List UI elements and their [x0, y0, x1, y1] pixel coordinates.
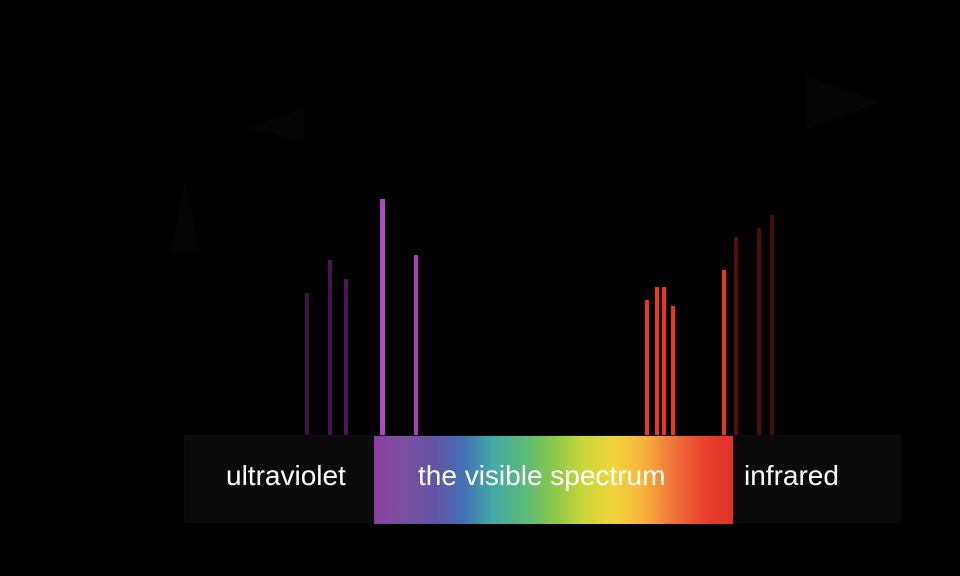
spectral-line — [380, 199, 385, 437]
spectral-line — [655, 287, 659, 437]
spectral-line — [328, 260, 332, 437]
spectral-line — [757, 228, 761, 437]
figure-canvas: ultraviolet the visible spectrum infrare… — [0, 0, 960, 576]
spectral-line — [305, 293, 309, 437]
spectral-line — [722, 270, 726, 437]
spectral-line — [734, 237, 738, 437]
spectral-line — [662, 287, 666, 437]
spectral-line — [671, 306, 675, 437]
spectral-line — [770, 215, 774, 437]
spectral-line — [645, 300, 649, 437]
visible-spectrum-label: the visible spectrum — [418, 462, 665, 490]
infrared-label: infrared — [744, 462, 839, 490]
spectral-line — [414, 255, 418, 437]
spectral-line — [344, 279, 348, 437]
ultraviolet-label: ultraviolet — [226, 462, 346, 490]
